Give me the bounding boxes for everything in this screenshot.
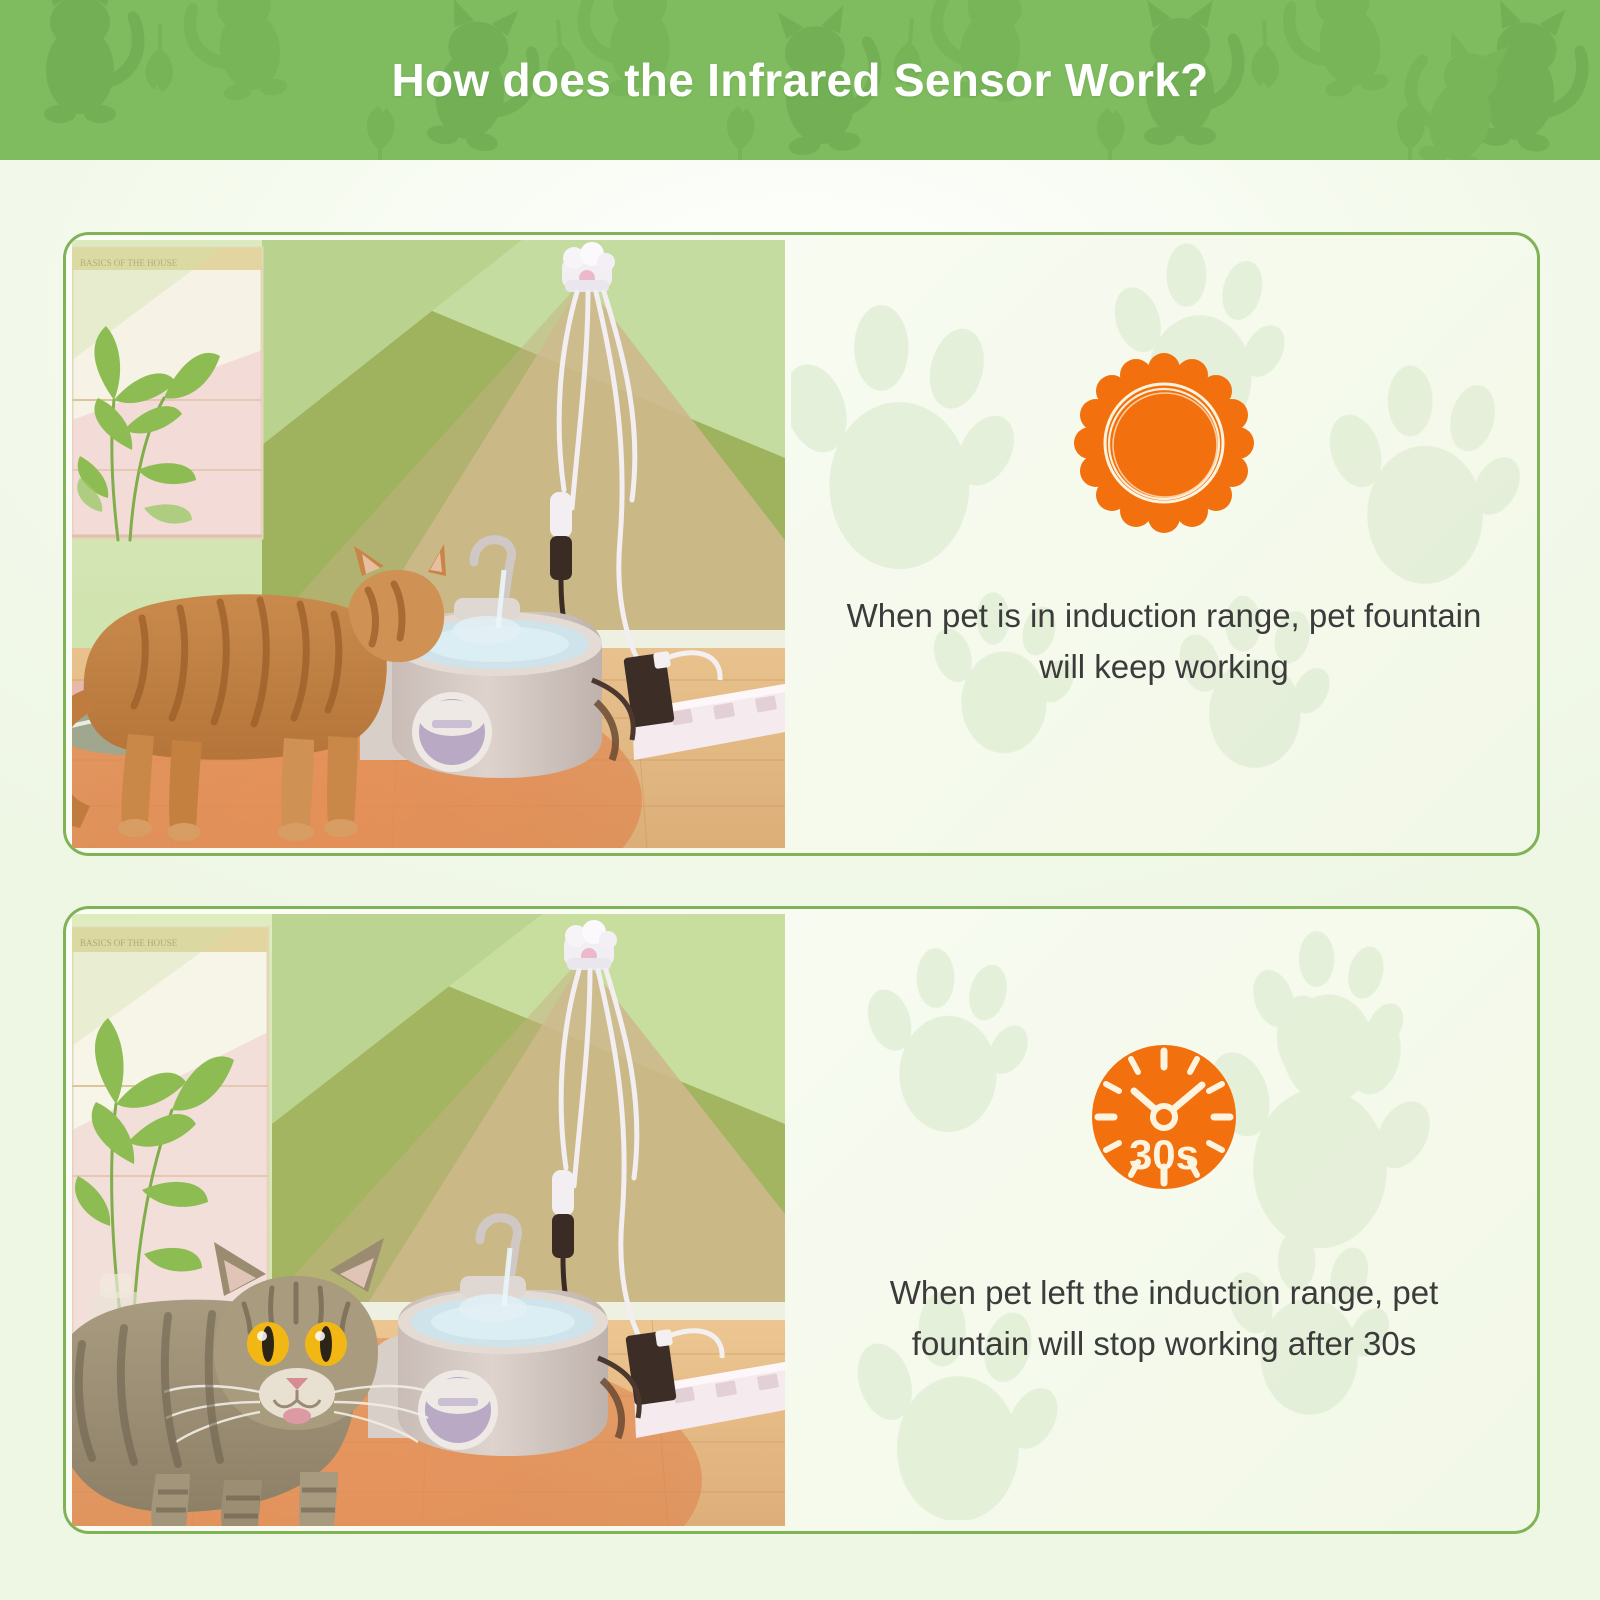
page-title: How does the Infrared Sensor Work? bbox=[0, 0, 1600, 160]
cat-leaving-fountain-photo: BASICS OF THE HOUSE bbox=[72, 914, 785, 1526]
panel-right-content-1: When pet is in induction range, pet foun… bbox=[791, 235, 1537, 853]
cat-drinking-at-fountain-photo: BASICS OF THE HOUSE bbox=[72, 240, 785, 848]
scalloped-sensor-badge-icon bbox=[1074, 353, 1254, 533]
clock-30s-icon-wrap: 30s bbox=[791, 1029, 1537, 1205]
scalloped-sensor-badge-icon-wrap bbox=[791, 353, 1537, 533]
page-header: How does the Infrared Sensor Work? bbox=[0, 0, 1600, 160]
panel-in-range: BASICS OF THE HOUSE bbox=[63, 232, 1540, 856]
panel-left-range: BASICS OF THE HOUSE bbox=[63, 906, 1540, 1534]
clock-duration-label: 30s bbox=[1129, 1131, 1199, 1178]
clock-30s-icon: 30s bbox=[1076, 1029, 1252, 1205]
panel-caption: When pet left the induction range, pet f… bbox=[831, 1267, 1497, 1369]
paw-print-watermark bbox=[791, 909, 1537, 1520]
panel-caption: When pet is in induction range, pet foun… bbox=[831, 590, 1497, 692]
panel-right-content-2: 30s When pet left the induction range, p… bbox=[791, 909, 1537, 1531]
paw-print-watermark bbox=[791, 235, 1537, 842]
